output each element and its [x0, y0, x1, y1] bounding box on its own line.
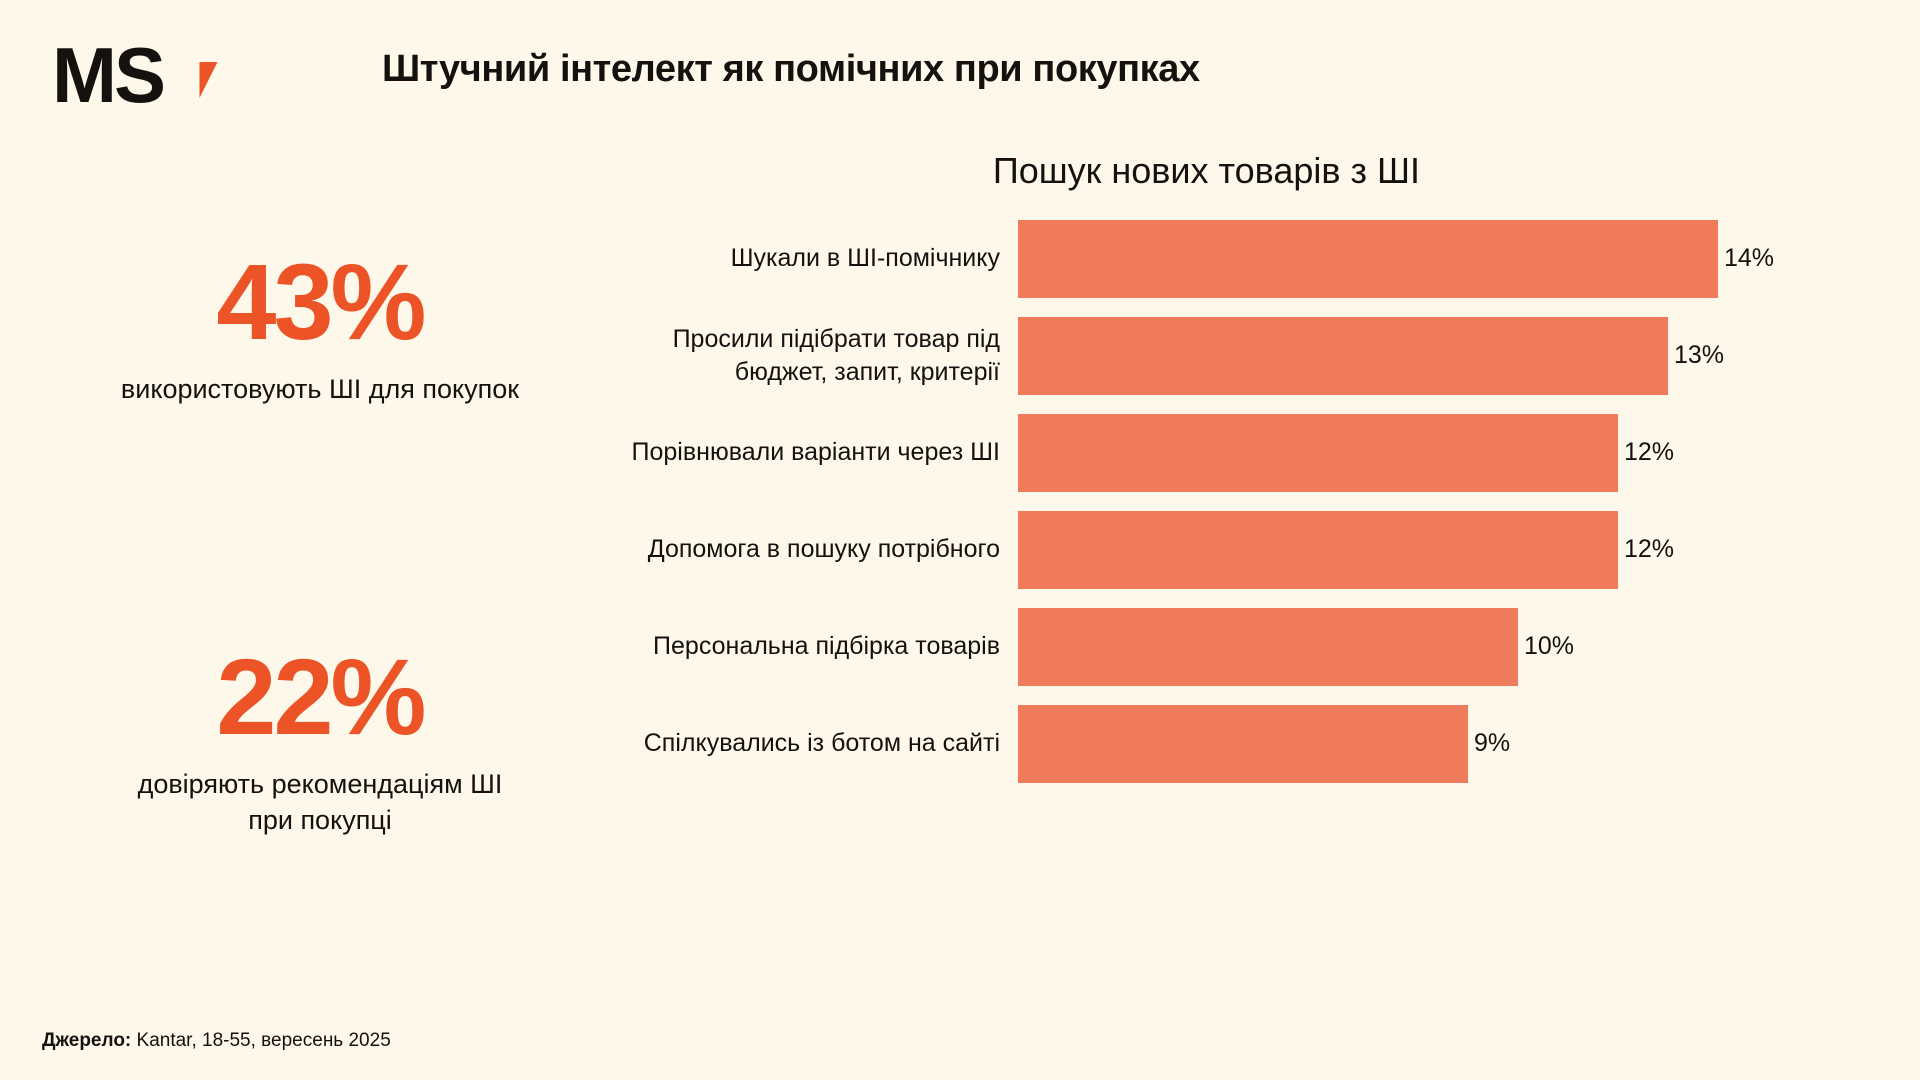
stat-value: 43% — [40, 245, 600, 358]
bar-row: Спілкувались із ботом на сайті9% — [600, 695, 1900, 792]
stat-caption: використовують ШІ для покупок — [40, 372, 600, 408]
chart-title: Пошук нових товарів з ШІ — [600, 150, 1420, 192]
stat-block-trust: 22% довіряють рекомендаціям ШІ при покуп… — [40, 640, 600, 839]
bar-value-label: 12% — [1624, 438, 1674, 467]
bar-label: Просили підібрати товар під бюджет, запи… — [600, 323, 1018, 388]
bar-track: 13% — [1018, 307, 1900, 404]
bar-track: 14% — [1018, 210, 1900, 307]
stat-caption: довіряють рекомендаціям ШІ при покупці — [40, 767, 600, 838]
bar-row: Допомога в пошуку потрібного12% — [600, 501, 1900, 598]
bar-row: Шукали в ШІ-помічнику14% — [600, 210, 1900, 307]
bar-row: Просили підібрати товар під бюджет, запи… — [600, 307, 1900, 404]
source-footer: Джерело: Kantar, 18-55, вересень 2025 — [42, 1030, 391, 1052]
stat-value: 22% — [40, 640, 600, 753]
bar-fill — [1018, 414, 1618, 492]
header: MS Штучний інтелект як помічних при поку… — [0, 0, 1920, 140]
bar-row: Персональна підбірка товарів10% — [600, 598, 1900, 695]
bar-label: Спілкувались із ботом на сайті — [600, 727, 1018, 760]
bar-track: 12% — [1018, 404, 1900, 501]
bar-track: 12% — [1018, 501, 1900, 598]
bar-label: Допомога в пошуку потрібного — [600, 533, 1018, 566]
bar-value-label: 14% — [1724, 244, 1774, 273]
apostrophe-mark-icon — [191, 62, 218, 98]
bar-list: Шукали в ШІ-помічнику14%Просили підібрат… — [600, 210, 1900, 792]
bar-row: Порівнювали варіанти через ШІ12% — [600, 404, 1900, 501]
bar-value-label: 13% — [1674, 341, 1724, 370]
source-text: Kantar, 18-55, вересень 2025 — [131, 1030, 391, 1051]
bar-value-label: 10% — [1524, 632, 1574, 661]
bar-fill — [1018, 608, 1518, 686]
bar-track: 9% — [1018, 695, 1900, 792]
logo: MS — [52, 30, 252, 120]
bar-fill — [1018, 220, 1718, 298]
bar-label: Порівнювали варіанти через ШІ — [600, 436, 1018, 469]
bar-value-label: 12% — [1624, 535, 1674, 564]
bar-chart: Пошук нових товарів з ШІ Шукали в ШІ-пом… — [600, 140, 1900, 930]
bar-fill — [1018, 705, 1468, 783]
bar-label: Персональна підбірка товарів — [600, 630, 1018, 663]
page-title: Штучний інтелект як помічних при покупка… — [382, 48, 1200, 91]
source-label: Джерело: — [42, 1030, 131, 1051]
stat-block-usage: 43% використовують ШІ для покупок — [40, 245, 600, 408]
logo-text: MS — [52, 30, 163, 120]
bar-fill — [1018, 317, 1668, 395]
bar-label: Шукали в ШІ-помічнику — [600, 242, 1018, 275]
bar-fill — [1018, 511, 1618, 589]
bar-track: 10% — [1018, 598, 1900, 695]
bar-value-label: 9% — [1474, 729, 1510, 758]
